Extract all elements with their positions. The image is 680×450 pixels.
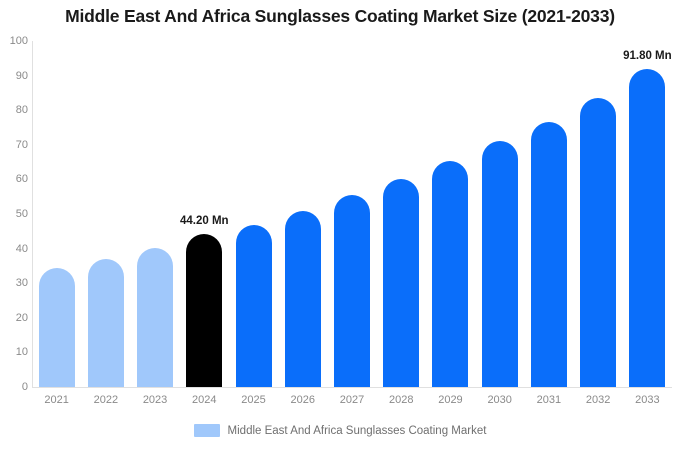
bar-2023[interactable]: [137, 248, 173, 387]
bar-group[interactable]: [236, 225, 272, 387]
bar-group[interactable]: [383, 179, 419, 387]
plot-area: 44.20 Mn91.80 Mn: [32, 41, 672, 387]
x-axis-tick-label-2028: 2028: [381, 394, 421, 406]
bar-group[interactable]: [432, 161, 468, 387]
legend-swatch: [194, 424, 220, 437]
bar-2024[interactable]: [186, 234, 222, 387]
bar-group[interactable]: 44.20 Mn: [186, 234, 222, 387]
y-axis-tick-label: 50: [0, 208, 28, 220]
x-axis-tick-label-2024: 2024: [184, 394, 224, 406]
x-axis-line: [32, 387, 672, 388]
bar-2028[interactable]: [383, 179, 419, 387]
bar-group[interactable]: [334, 195, 370, 387]
x-axis-tick-label-2025: 2025: [234, 394, 274, 406]
bar-group[interactable]: [137, 248, 173, 387]
bar-group[interactable]: [39, 268, 75, 387]
y-axis-tick-label: 100: [0, 35, 28, 47]
y-axis-tick-label: 30: [0, 277, 28, 289]
bar-value-label: 44.20 Mn: [180, 215, 229, 227]
y-axis: 1009080706050403020100: [0, 41, 28, 387]
y-axis-tick-label: 90: [0, 70, 28, 82]
bar-2022[interactable]: [88, 259, 124, 387]
bar-2030[interactable]: [482, 141, 518, 387]
bar-2029[interactable]: [432, 161, 468, 387]
y-axis-tick-label: 40: [0, 243, 28, 255]
bar-2026[interactable]: [285, 211, 321, 387]
legend-label[interactable]: Middle East And Africa Sunglasses Coatin…: [228, 425, 487, 437]
x-axis-tick-label-2029: 2029: [430, 394, 470, 406]
bar-2033[interactable]: [629, 69, 665, 387]
bar-value-label: 91.80 Mn: [623, 50, 672, 62]
x-axis-tick-label-2033: 2033: [627, 394, 667, 406]
chart-title: Middle East And Africa Sunglasses Coatin…: [0, 6, 680, 27]
bar-2032[interactable]: [580, 98, 616, 387]
bar-group[interactable]: 91.80 Mn: [629, 69, 665, 387]
bar-2021[interactable]: [39, 268, 75, 387]
x-axis-tick-label-2031: 2031: [529, 394, 569, 406]
bar-group[interactable]: [531, 122, 567, 387]
x-axis-tick-label-2021: 2021: [37, 394, 77, 406]
bar-2025[interactable]: [236, 225, 272, 387]
bar-2027[interactable]: [334, 195, 370, 387]
y-axis-tick-label: 80: [0, 104, 28, 116]
y-axis-tick-label: 20: [0, 312, 28, 324]
x-axis-tick-label-2023: 2023: [135, 394, 175, 406]
bar-2031[interactable]: [531, 122, 567, 387]
x-axis-tick-label-2026: 2026: [283, 394, 323, 406]
bar-group[interactable]: [88, 259, 124, 387]
y-axis-tick-label: 60: [0, 173, 28, 185]
y-axis-tick-label: 70: [0, 139, 28, 151]
chart-legend: Middle East And Africa Sunglasses Coatin…: [0, 424, 680, 437]
x-axis-tick-label-2030: 2030: [480, 394, 520, 406]
bar-group[interactable]: [580, 98, 616, 387]
y-axis-tick-label: 0: [0, 381, 28, 393]
chart-container: Middle East And Africa Sunglasses Coatin…: [0, 0, 680, 450]
x-axis-tick-label-2032: 2032: [578, 394, 618, 406]
x-axis-tick-label-2027: 2027: [332, 394, 372, 406]
bar-group[interactable]: [482, 141, 518, 387]
y-axis-tick-label: 10: [0, 346, 28, 358]
bar-group[interactable]: [285, 211, 321, 387]
x-axis-tick-label-2022: 2022: [86, 394, 126, 406]
